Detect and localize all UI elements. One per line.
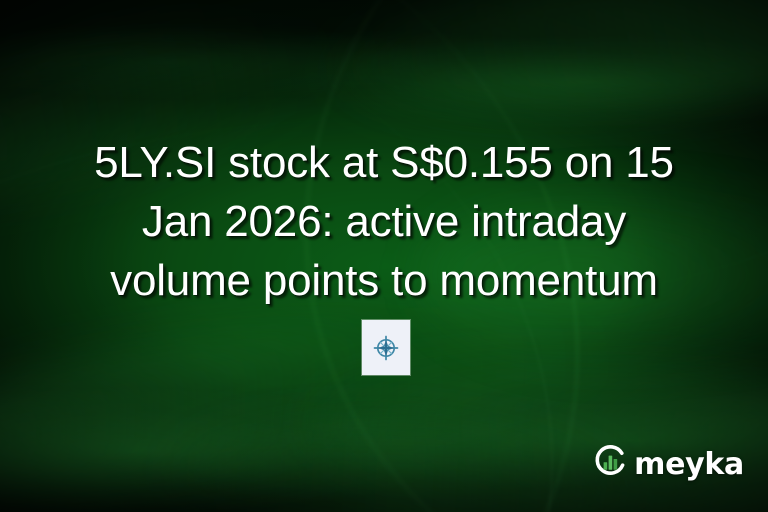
brand-name: meyka (634, 450, 744, 480)
headline-line-2: Jan 2026: active intraday (26, 192, 742, 251)
image-placeholder-card (362, 320, 410, 375)
meyka-bar-chart-circle-icon (591, 443, 629, 486)
headline-line-3: volume points to momentum (26, 251, 742, 310)
compass-icon (369, 331, 403, 365)
brand-lockup[interactable]: meyka (591, 443, 744, 486)
headline-line-1: 5LY.SI stock at S$0.155 on 15 (26, 133, 742, 192)
headline: 5LY.SI stock at S$0.155 on 15 Jan 2026: … (0, 133, 768, 310)
meyka-article-banner: 5LY.SI stock at S$0.155 on 15 Jan 2026: … (0, 0, 768, 512)
